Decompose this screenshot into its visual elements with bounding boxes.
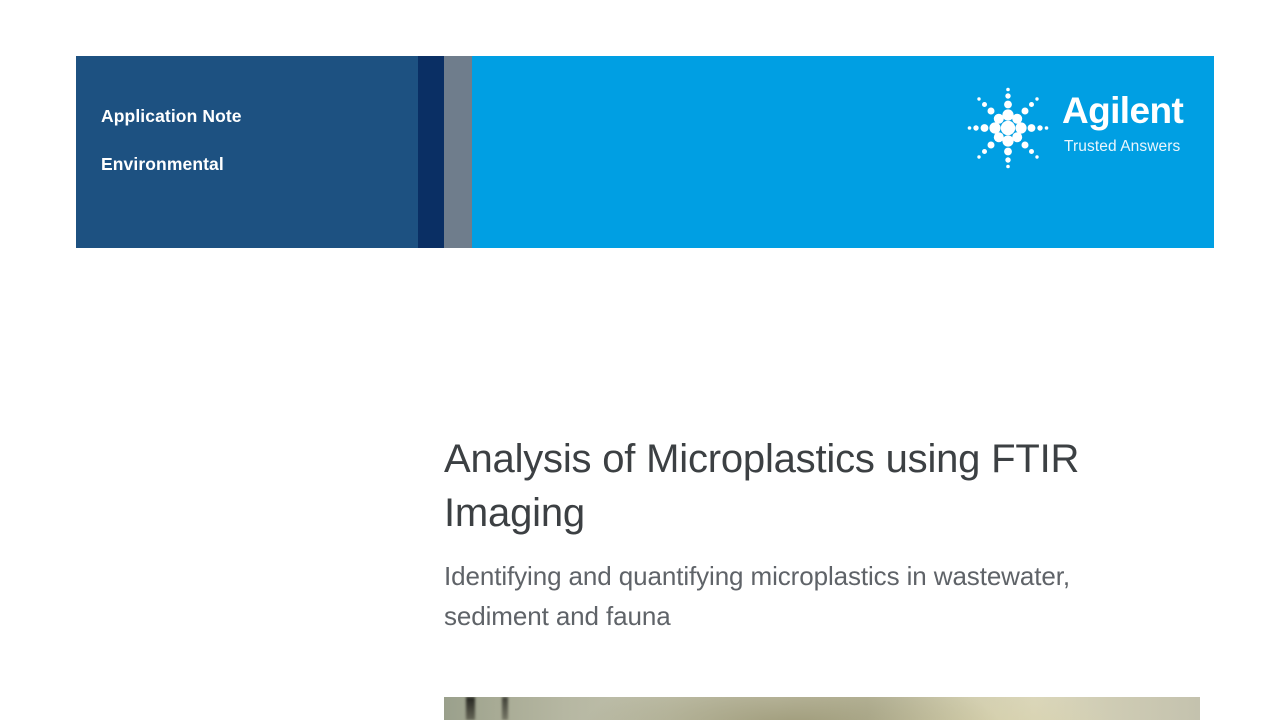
agilent-tagline: Trusted Answers [1064, 139, 1180, 155]
document-segment-label: Environmental [101, 156, 401, 174]
document-type-label: Application Note [101, 108, 401, 126]
document-page: Application Note Environmental [0, 0, 1280, 720]
document-category-block: Application Note Environmental [101, 108, 401, 173]
page-title: Analysis of Microplastics using FTIR Ima… [444, 432, 1144, 540]
cover-photo-image [444, 697, 1200, 720]
header-band-slate-gray [444, 56, 472, 248]
cover-photo-foreground-object-left [466, 697, 475, 720]
agilent-starburst-icon [962, 82, 1054, 174]
page-subtitle: Identifying and quantifying microplastic… [444, 556, 1144, 636]
header-banner: Application Note Environmental [76, 56, 1214, 248]
agilent-wordmark: Agilent [1062, 92, 1183, 129]
cover-title-block: Analysis of Microplastics using FTIR Ima… [444, 432, 1144, 636]
agilent-logo: Agilent Trusted Answers [962, 82, 1182, 192]
header-band-navy [418, 56, 444, 248]
cover-photo [444, 697, 1200, 720]
cover-photo-foreground-object-right [502, 697, 508, 720]
